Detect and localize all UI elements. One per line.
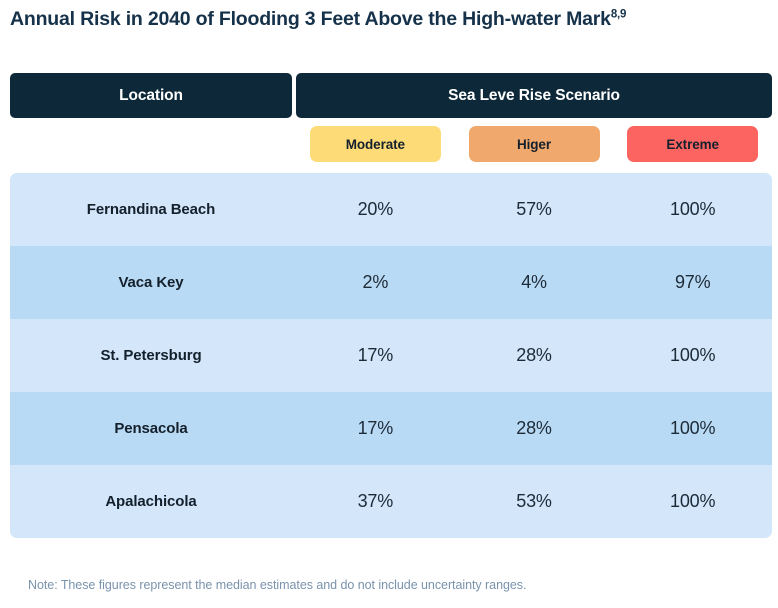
- status-badge-extreme: Extreme: [627, 126, 758, 162]
- cell-location: St. Petersburg: [10, 347, 292, 364]
- scenario-badge-row: Moderate Higer Extreme: [10, 126, 772, 162]
- cell-location: Pensacola: [10, 420, 292, 437]
- table-body: Fernandina Beach 20% 57% 100% Vaca Key 2…: [10, 173, 772, 538]
- table-row: Fernandina Beach 20% 57% 100%: [10, 173, 772, 246]
- page-title-text: Annual Risk in 2040 of Flooding 3 Feet A…: [10, 8, 611, 30]
- flood-risk-table: Location Sea Leve Rise Scenario Moderate…: [10, 73, 772, 538]
- scenario-badge-cell-extreme: Extreme: [613, 126, 772, 162]
- status-badge-higer: Higer: [469, 126, 600, 162]
- cell-moderate: 17%: [296, 345, 455, 366]
- column-header-scenario-group: Sea Leve Rise Scenario: [296, 73, 772, 118]
- table-row: Vaca Key 2% 4% 97%: [10, 246, 772, 319]
- status-badge-moderate: Moderate: [310, 126, 441, 162]
- cell-higer: 28%: [455, 345, 614, 366]
- scenario-badge-cell-higer: Higer: [455, 126, 614, 162]
- table-row: St. Petersburg 17% 28% 100%: [10, 319, 772, 392]
- table-row: Pensacola 17% 28% 100%: [10, 392, 772, 465]
- cell-extreme: 100%: [613, 491, 772, 512]
- cell-higer: 53%: [455, 491, 614, 512]
- table-note: Note: These figures represent the median…: [28, 578, 526, 592]
- column-header-location: Location: [10, 73, 292, 118]
- cell-values-group: 20% 57% 100%: [292, 199, 772, 220]
- cell-extreme: 97%: [613, 272, 772, 293]
- cell-moderate: 37%: [296, 491, 455, 512]
- table-header-row: Location Sea Leve Rise Scenario: [10, 73, 772, 118]
- cell-higer: 4%: [455, 272, 614, 293]
- cell-values-group: 17% 28% 100%: [292, 345, 772, 366]
- cell-higer: 28%: [455, 418, 614, 439]
- cell-extreme: 100%: [613, 345, 772, 366]
- cell-location: Apalachicola: [10, 493, 292, 510]
- cell-moderate: 17%: [296, 418, 455, 439]
- cell-location: Vaca Key: [10, 274, 292, 291]
- cell-location: Fernandina Beach: [10, 201, 292, 218]
- cell-values-group: 2% 4% 97%: [292, 272, 772, 293]
- table-row: Apalachicola 37% 53% 100%: [10, 465, 772, 538]
- cell-moderate: 20%: [296, 199, 455, 220]
- page-title: Annual Risk in 2040 of Flooding 3 Feet A…: [10, 8, 770, 31]
- cell-values-group: 17% 28% 100%: [292, 418, 772, 439]
- scenario-badge-cell-moderate: Moderate: [296, 126, 455, 162]
- cell-extreme: 100%: [613, 418, 772, 439]
- cell-extreme: 100%: [613, 199, 772, 220]
- cell-moderate: 2%: [296, 272, 455, 293]
- cell-higer: 57%: [455, 199, 614, 220]
- page-title-superscript: 8,9: [611, 9, 626, 21]
- cell-values-group: 37% 53% 100%: [292, 491, 772, 512]
